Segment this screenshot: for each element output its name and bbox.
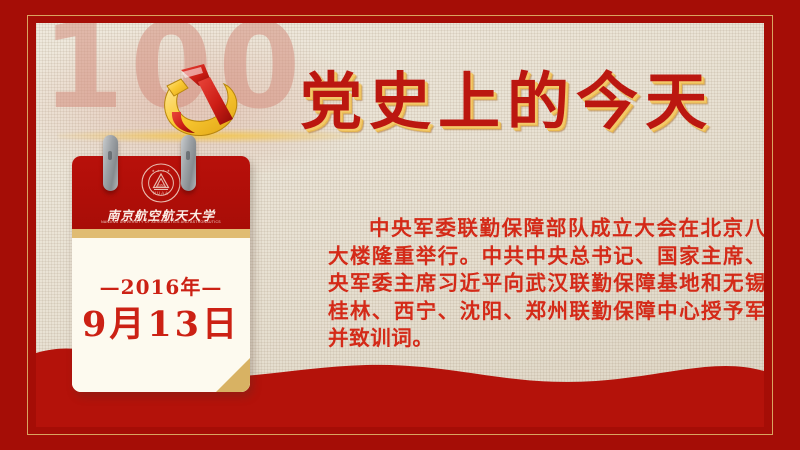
calendar-header: NUAA ★ ★ ★ ★ 1952 南京航空航天大学 NANJING UNIVE…	[72, 156, 250, 229]
calendar-day: 9月13日	[72, 296, 250, 347]
poster-canvas: 100	[36, 23, 764, 427]
nuaa-university-seal-icon: NUAA ★ ★ ★ ★ 1952	[141, 163, 181, 203]
svg-text:★ ★ ★ ★: ★ ★ ★ ★	[152, 169, 171, 173]
university-name-en: NANJING UNIVERSITY OF AERONAUTICS AND AS…	[72, 220, 250, 225]
calendar-gold-band	[72, 229, 250, 238]
calendar-body: —2016年— 9月13日	[72, 238, 250, 392]
calendar-card: NUAA ★ ★ ★ ★ 1952 南京航空航天大学 NANJING UNIVE…	[64, 135, 262, 403]
page-fold-corner-icon	[216, 358, 250, 392]
event-description: 中央军委联勤保障部队成立大会在北京八一大楼隆重举行。中共中央总书记、国家主席、中…	[328, 215, 764, 353]
binding-ring-left-icon	[103, 135, 118, 191]
svg-text:1952: 1952	[158, 183, 164, 187]
page-title: 党史上的今天	[300, 51, 714, 141]
calendar-sheet: NUAA ★ ★ ★ ★ 1952 南京航空航天大学 NANJING UNIVE…	[72, 156, 250, 392]
poster-root: 100	[0, 0, 800, 450]
cpc-hammer-sickle-emblem	[141, 55, 253, 147]
binding-ring-right-icon	[181, 135, 196, 191]
svg-text:NUAA: NUAA	[153, 191, 169, 196]
